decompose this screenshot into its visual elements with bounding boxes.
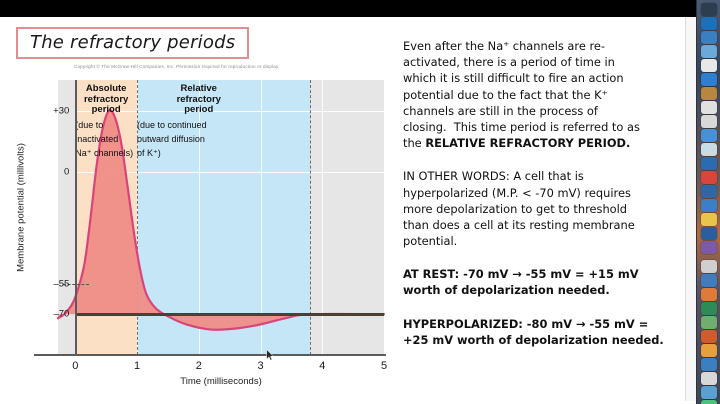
plot-area: Absolute refractory period (due to inact… xyxy=(58,80,384,355)
x-axis-tick: 5 xyxy=(381,360,387,372)
copyright-notice: Copyright © The McGraw-Hill Companies, I… xyxy=(74,64,279,69)
x-axis-tick: 2 xyxy=(196,360,202,372)
mouse-cursor-icon xyxy=(266,349,274,361)
dock-separator xyxy=(701,255,717,259)
x-axis-label: Time (milliseconds) xyxy=(58,376,384,387)
paragraph-at-rest: AT REST: -70 mV → -55 mV = +15 mV worth … xyxy=(403,266,693,298)
paragraph-hyperpolarized: HYPERPOLARIZED: -80 mV → -55 mV = +25 mV… xyxy=(403,316,693,348)
dock-icon[interactable] xyxy=(701,344,717,357)
dock-icon[interactable] xyxy=(701,87,717,100)
y-axis-tick: +30 xyxy=(53,105,69,116)
dock-icon[interactable] xyxy=(701,185,717,198)
paragraph-1-emphasis: RELATIVE REFRACTORY PERIOD. xyxy=(425,136,630,150)
paragraph-1-text: Even after the Na⁺ channels are re- acti… xyxy=(403,39,640,150)
dock-icon[interactable] xyxy=(701,73,717,86)
letterbox-top-bar xyxy=(0,0,700,17)
dock-icon-list[interactable] xyxy=(697,0,720,404)
x-axis-line xyxy=(34,354,386,356)
dock-icon[interactable] xyxy=(701,241,717,254)
dock-icon[interactable] xyxy=(701,372,717,385)
dock-icon[interactable] xyxy=(701,143,717,156)
y-axis-tick: –70 xyxy=(53,309,69,320)
dock-icon[interactable] xyxy=(701,316,717,329)
resting-potential-line xyxy=(75,313,384,316)
dock-icon[interactable] xyxy=(701,274,717,287)
desktop-dock[interactable] xyxy=(696,0,720,404)
dock-icon[interactable] xyxy=(701,129,717,142)
relative-refractory-label: Relative refractory period (due to conti… xyxy=(137,84,260,158)
dock-icon[interactable] xyxy=(701,400,717,404)
y-axis-line xyxy=(75,80,77,355)
dock-icon[interactable] xyxy=(701,101,717,114)
plot-canvas: Absolute refractory period (due to inact… xyxy=(58,80,384,355)
screen: The refractory periods Copyright © The M… xyxy=(0,0,720,404)
dock-icon[interactable] xyxy=(701,302,717,315)
dock-icon[interactable] xyxy=(701,199,717,212)
dock-icon[interactable] xyxy=(701,171,717,184)
paragraph-in-other-words: IN OTHER WORDS: A cell that is hyperpola… xyxy=(403,168,693,249)
x-axis-tick: 1 xyxy=(134,360,140,372)
dock-icon[interactable] xyxy=(701,45,717,58)
dock-icon[interactable] xyxy=(701,386,717,399)
dock-icon[interactable] xyxy=(701,288,717,301)
page-title: The refractory periods xyxy=(30,32,235,53)
y-axis-tick: –55 xyxy=(53,278,69,289)
dock-icon[interactable] xyxy=(701,17,717,30)
action-potential-figure: Membrane potential (millivolts) xyxy=(0,72,392,402)
y-axis-label: Membrane potential (millivolts) xyxy=(16,113,27,303)
explanation-text-column: Even after the Na⁺ channels are re- acti… xyxy=(403,38,693,359)
absolute-refractory-label: Absolute refractory period (due to inact… xyxy=(75,84,137,158)
dock-icon[interactable] xyxy=(701,59,717,72)
dock-icon[interactable] xyxy=(701,3,717,16)
x-axis-tick: 3 xyxy=(257,360,263,372)
y-axis-tick: 0 xyxy=(64,166,69,177)
dock-icon[interactable] xyxy=(701,330,717,343)
dock-icon[interactable] xyxy=(701,358,717,371)
x-axis-tick: 0 xyxy=(72,360,78,372)
dock-icon[interactable] xyxy=(701,157,717,170)
dock-icon[interactable] xyxy=(701,115,717,128)
dock-icon[interactable] xyxy=(701,227,717,240)
paragraph-relative-refractory: Even after the Na⁺ channels are re- acti… xyxy=(403,38,693,151)
dock-icon[interactable] xyxy=(701,31,717,44)
dock-icon[interactable] xyxy=(701,260,717,273)
slide-title-box: The refractory periods xyxy=(16,27,249,59)
x-axis-tick: 4 xyxy=(319,360,325,372)
dock-icon[interactable] xyxy=(701,213,717,226)
